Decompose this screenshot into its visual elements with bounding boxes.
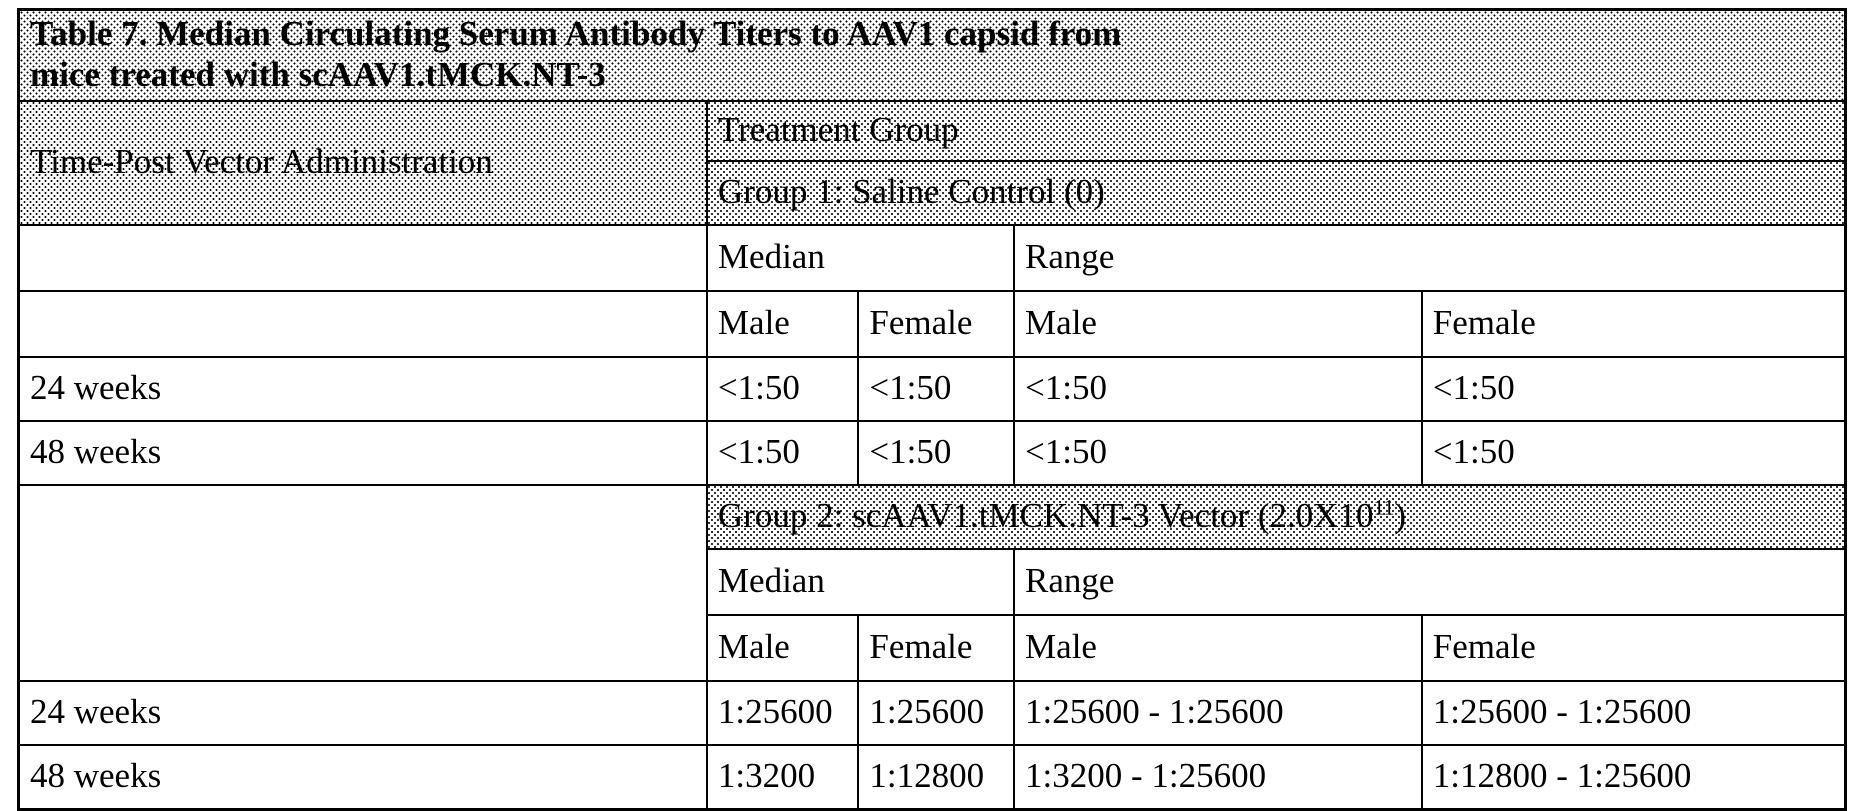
group-1-sex-header-row: Male Female Male Female [19, 291, 1846, 357]
spacer-cell-group-2 [19, 485, 707, 681]
group-1-row-1-median-male: <1:50 [707, 421, 858, 485]
group-2-median-male-header: Male [707, 615, 858, 681]
group-2-row-0-timepoint: 24 weeks [19, 681, 707, 745]
column-header-treatment-group: Treatment Group [707, 101, 1846, 161]
group-2-row-0-range-male: 1:25600 - 1:25600 [1014, 681, 1422, 745]
header-row-treatment-group: Time-Post Vector Administration Treatmen… [19, 101, 1846, 161]
group-2-name-exponent: 11 [1374, 495, 1395, 519]
group-1-range-header: Range [1014, 225, 1845, 291]
group-2-row-1-timepoint: 48 weeks [19, 745, 707, 810]
group-1-median-header: Median [707, 225, 1014, 291]
table-row: 48 weeks 1:3200 1:12800 1:3200 - 1:25600… [19, 745, 1846, 810]
group-2-row-1-median-male: 1:3200 [707, 745, 858, 810]
group-2-row-0-range-female: 1:25600 - 1:25600 [1422, 681, 1846, 745]
group-2-name-tail: ) [1394, 496, 1406, 535]
group-1-row-1-median-female: <1:50 [858, 421, 1014, 485]
table-title-row: Table 7. Median Circulating Serum Antibo… [19, 10, 1846, 101]
group-1-row-0-range-male: <1:50 [1014, 357, 1422, 421]
group-1-row-1-timepoint: 48 weeks [19, 421, 707, 485]
group-1-row-0-timepoint: 24 weeks [19, 357, 707, 421]
spacer-cell-group-1-metric [19, 225, 707, 291]
table-title-line-1: Table 7. Median Circulating Serum Antibo… [30, 14, 1121, 53]
group-1-row-0-range-female: <1:50 [1422, 357, 1846, 421]
group-2-row-1-range-female: 1:12800 - 1:25600 [1422, 745, 1846, 810]
group-2-row-1-range-male: 1:3200 - 1:25600 [1014, 745, 1422, 810]
group-1-metric-header-row: Median Range [19, 225, 1846, 291]
group-1-row-1-range-male: <1:50 [1014, 421, 1422, 485]
table-title: Table 7. Median Circulating Serum Antibo… [19, 10, 1846, 101]
column-header-timepoint: Time-Post Vector Administration [19, 101, 707, 225]
group-1-row-1-range-female: <1:50 [1422, 421, 1846, 485]
group-2-range-header: Range [1014, 549, 1845, 615]
spacer-cell-group-1-sex [19, 291, 707, 357]
table-title-line-2: mice treated with scAAV1.tMCK.NT-3 [30, 55, 606, 94]
group-1-row-0-median-male: <1:50 [707, 357, 858, 421]
group-1-range-male-header: Male [1014, 291, 1422, 357]
group-2-name-base: Group 2: scAAV1.tMCK.NT-3 Vector (2.0X10 [718, 496, 1374, 535]
group-1-name: Group 1: Saline Control (0) [707, 161, 1846, 225]
group-1-median-female-header: Female [858, 291, 1014, 357]
group-2-name: Group 2: scAAV1.tMCK.NT-3 Vector (2.0X10… [707, 485, 1846, 549]
group-1-median-male-header: Male [707, 291, 858, 357]
group-2-range-female-header: Female [1422, 615, 1846, 681]
group-2-row-0-median-female: 1:25600 [858, 681, 1014, 745]
antibody-titer-table: Table 7. Median Circulating Serum Antibo… [17, 8, 1847, 811]
group-1-range-female-header: Female [1422, 291, 1846, 357]
group-2-median-header: Median [707, 549, 1014, 615]
group-2-range-male-header: Male [1014, 615, 1422, 681]
table-row: 24 weeks 1:25600 1:25600 1:25600 - 1:256… [19, 681, 1846, 745]
group-2-row-1-median-female: 1:12800 [858, 745, 1014, 810]
table-row: 24 weeks <1:50 <1:50 <1:50 <1:50 [19, 357, 1846, 421]
table-row: 48 weeks <1:50 <1:50 <1:50 <1:50 [19, 421, 1846, 485]
table-container: Table 7. Median Circulating Serum Antibo… [17, 8, 1847, 811]
group-2-median-female-header: Female [858, 615, 1014, 681]
group-1-row-0-median-female: <1:50 [858, 357, 1014, 421]
group-2-banner-row: Group 2: scAAV1.tMCK.NT-3 Vector (2.0X10… [19, 485, 1846, 549]
group-2-row-0-median-male: 1:25600 [707, 681, 858, 745]
